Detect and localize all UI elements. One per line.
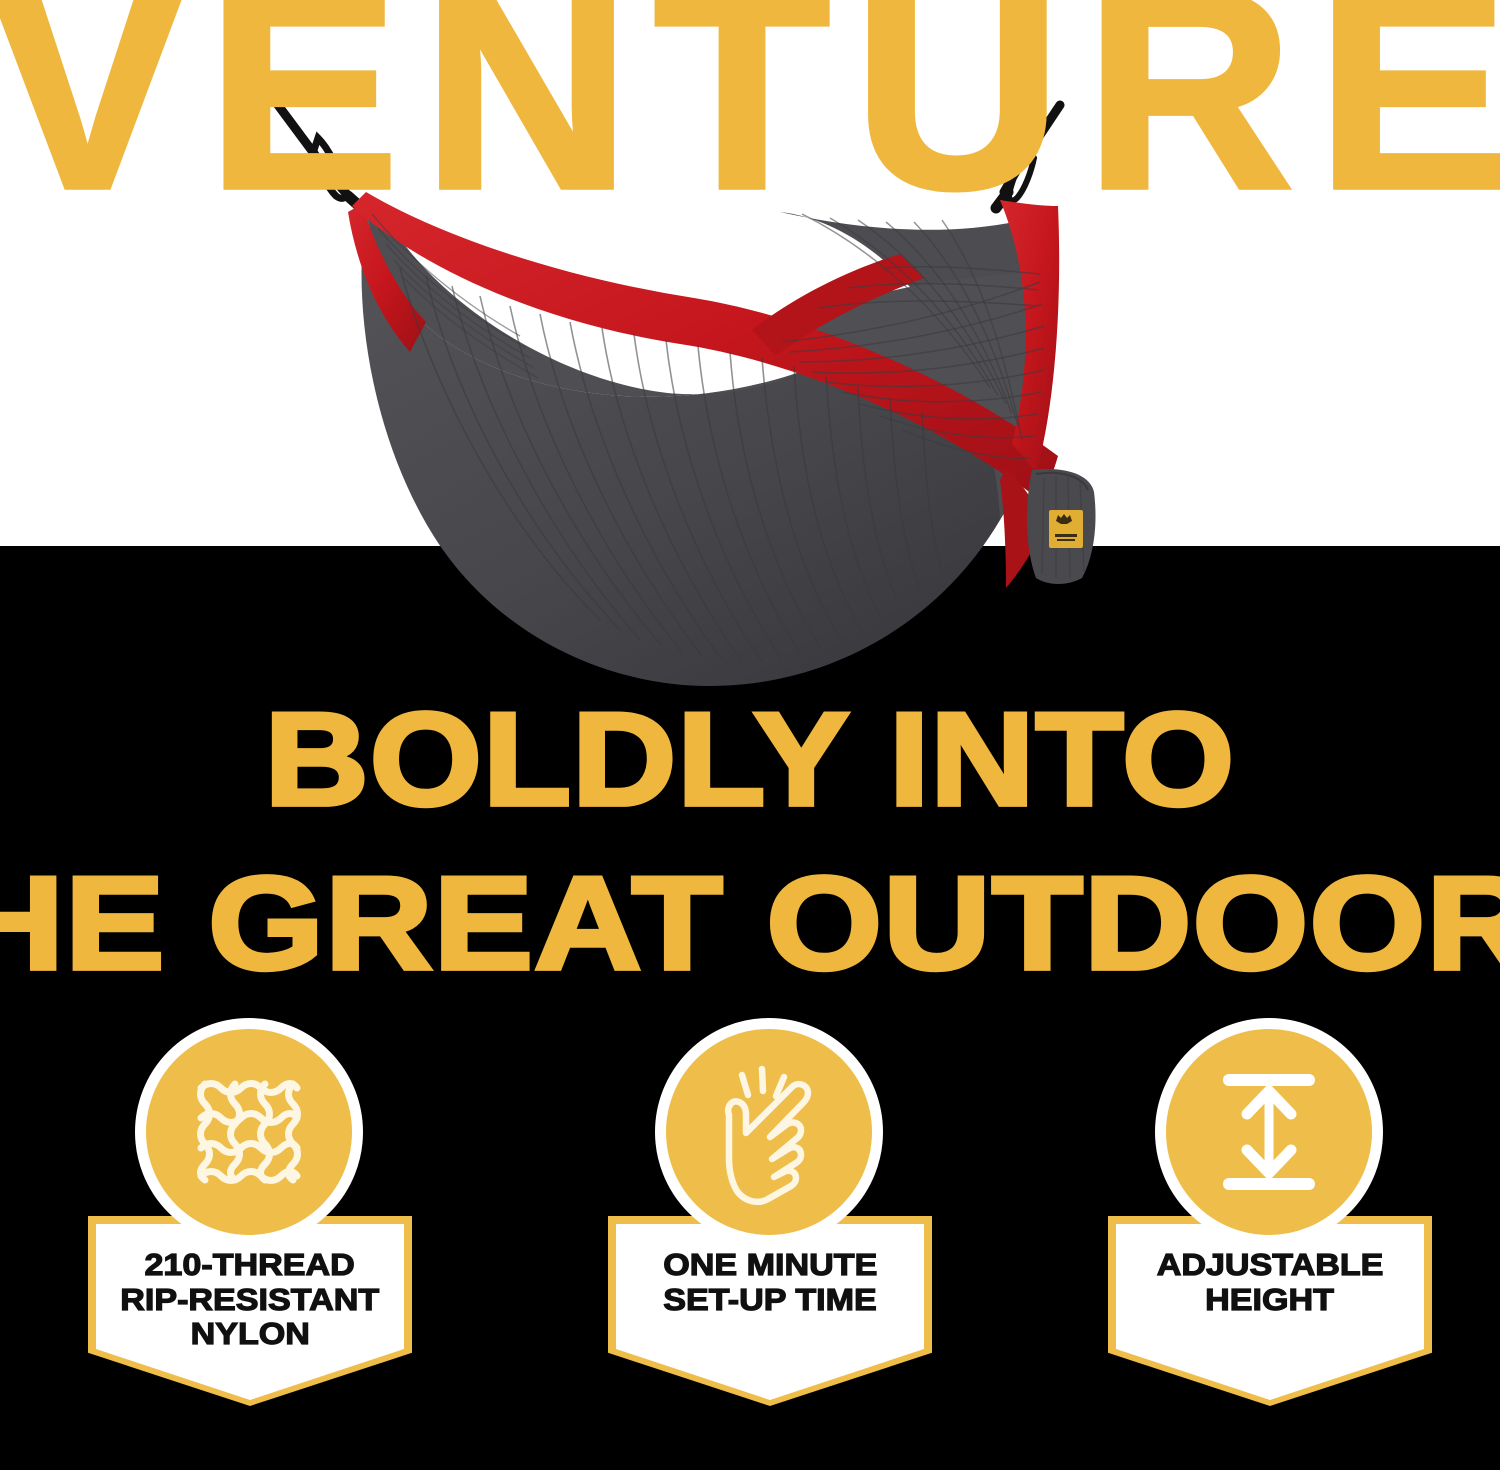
badge-label-line-1: ADJUSTABLE xyxy=(1157,1248,1384,1283)
snapping-fingers-icon xyxy=(696,1059,842,1205)
badge-label-line-2: SET-UP TIME xyxy=(663,1283,876,1318)
feature-badge-nylon: 210-THREAD RIP-RESISTANT NYLON xyxy=(80,1012,420,1412)
product-advertisement-poster: VENTURE xyxy=(0,0,1500,1470)
badge-label-line-2: RIP-RESISTANT xyxy=(121,1283,380,1318)
woven-fabric-icon xyxy=(179,1062,319,1202)
hammock-stuff-sack xyxy=(1027,469,1095,584)
badge-circle-adjustable-height xyxy=(1155,1018,1383,1246)
page-title: VENTURE xyxy=(0,0,1500,231)
badge-label-line-1: ONE MINUTE xyxy=(663,1248,877,1283)
vertical-arrow-icon xyxy=(1199,1062,1339,1202)
feature-badge-row: 210-THREAD RIP-RESISTANT NYLON xyxy=(0,1012,1500,1412)
badge-label-line-2: HEIGHT xyxy=(1206,1283,1335,1318)
feature-badge-setup-time: ONE MINUTE SET-UP TIME xyxy=(600,1012,940,1412)
headline-line-2: THE GREAT OUTDOORS xyxy=(0,863,1500,986)
main-headline: BOLDLY INTO THE GREAT OUTDOORS xyxy=(0,706,1500,979)
badge-label-line-3: NYLON xyxy=(190,1317,309,1352)
badge-label-line-1: 210-THREAD xyxy=(145,1248,355,1283)
badge-circle-setup-time xyxy=(655,1018,883,1246)
brand-tag xyxy=(1049,510,1083,548)
feature-badge-adjustable-height: ADJUSTABLE HEIGHT xyxy=(1100,1012,1440,1412)
badge-circle-nylon xyxy=(135,1018,363,1246)
headline-line-1: BOLDLY INTO xyxy=(0,699,1500,822)
